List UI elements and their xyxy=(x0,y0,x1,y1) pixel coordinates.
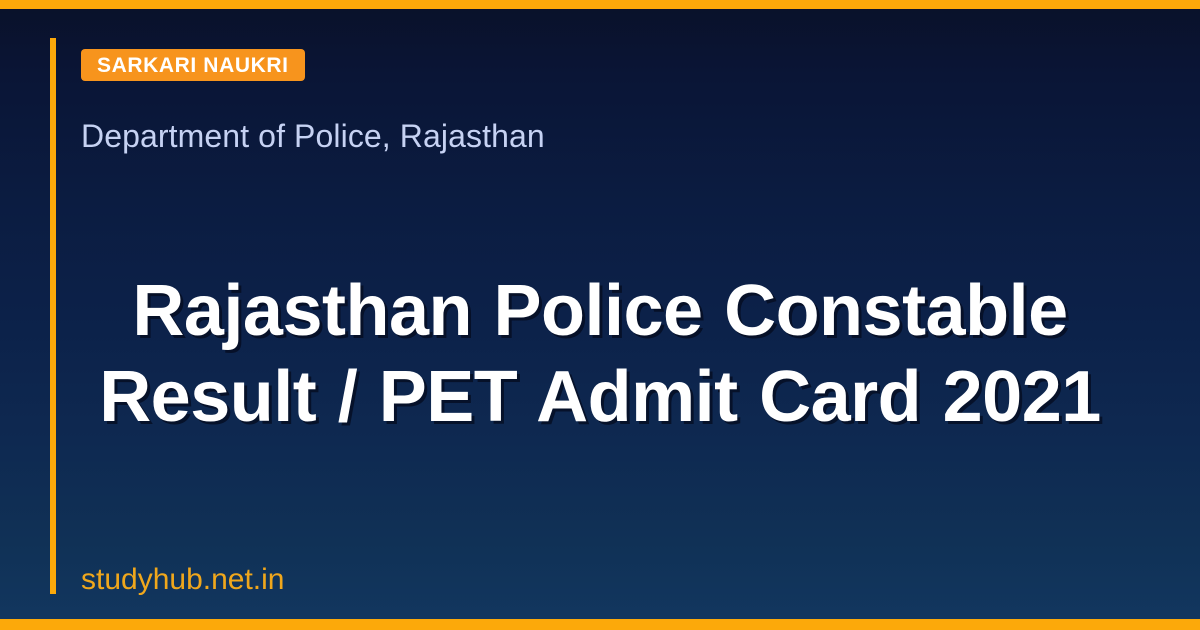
organization-subtitle: Department of Police, Rajasthan xyxy=(81,117,545,155)
left-accent-bar xyxy=(50,38,56,594)
top-accent-rule xyxy=(0,0,1200,9)
site-url: studyhub.net.in xyxy=(81,562,284,598)
poster-canvas: SARKARI NAUKRI Department of Police, Raj… xyxy=(0,0,1200,630)
page-title: Rajasthan Police Constable Result / PET … xyxy=(80,268,1120,440)
category-badge-label: SARKARI NAUKRI xyxy=(97,55,289,76)
bottom-accent-rule xyxy=(0,619,1200,630)
category-badge: SARKARI NAUKRI xyxy=(81,49,305,81)
